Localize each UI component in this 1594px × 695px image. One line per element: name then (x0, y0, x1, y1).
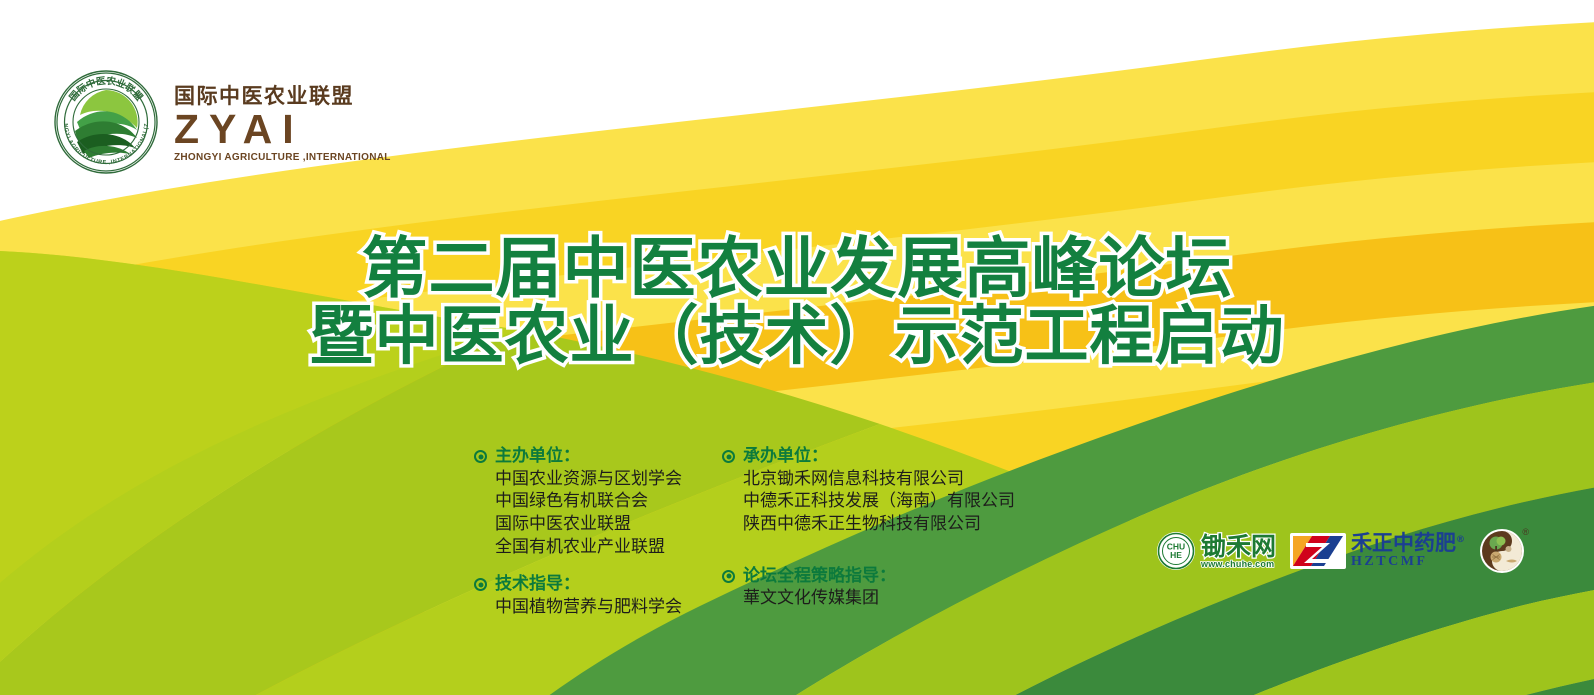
sponsor-logo-chuhe: CHU HE 锄禾网 www.chuhe.com (1156, 531, 1276, 571)
credit-items: 中国植物营养与肥料学会 (495, 596, 682, 619)
hezheng-name-cn: 禾正中药肥® (1351, 533, 1465, 554)
zyai-acronym: ZYAI (174, 109, 391, 150)
trademark-icon: ® (1456, 535, 1465, 545)
zyai-logo: 国际中医农业联盟 ZHONGYI AGRICULTURE ,INTERNATIO… (52, 68, 391, 176)
credit-group-hosts: 承办单位： 北京锄禾网信息科技有限公司 中德禾正科技发展（海南）有限公司 陕西中… (722, 446, 1015, 536)
credit-item: 中国绿色有机联合会 (495, 490, 682, 513)
hezheng-name-en: HZTCMF (1351, 555, 1465, 569)
zyai-org-name-cn: 国际中医农业联盟 (174, 86, 391, 107)
credit-heading-text: 承办单位： (743, 446, 828, 468)
credit-heading: 论坛全程策略指导： (722, 566, 1015, 588)
credit-group-technical-guidance: 技术指导： 中国植物营养与肥料学会 (474, 574, 682, 618)
zyai-wordmark: 国际中医农业联盟 ZYAI ZHONGYI AGRICULTURE ,INTER… (174, 82, 391, 163)
credit-group-organizers: 主办单位： 中国农业资源与区划学会 中国绿色有机联合会 国际中医农业联盟 全国有… (474, 446, 682, 558)
credit-item: 陕西中德禾正生物科技有限公司 (743, 513, 1015, 536)
bullet-icon (474, 450, 487, 463)
sponsor-logo-tree-emblem: ® (1479, 528, 1525, 574)
hezheng-wordmark: 禾正中药肥® HZTCMF (1351, 533, 1465, 569)
credit-heading-text: 主办单位： (495, 446, 580, 468)
chuhe-seal-icon: CHU HE (1156, 531, 1196, 571)
credit-heading: 技术指导： (474, 574, 682, 596)
credit-heading: 主办单位： (474, 446, 682, 468)
bullet-icon (474, 578, 487, 591)
credit-item: 中德禾正科技发展（海南）有限公司 (743, 490, 1015, 513)
credits-block: 主办单位： 中国农业资源与区划学会 中国绿色有机联合会 国际中医农业联盟 全国有… (474, 446, 1015, 629)
sponsor-logo-hezheng: 禾正中药肥® HZTCMF (1290, 533, 1465, 569)
credit-items: 華文文化传媒集团 (743, 587, 1015, 610)
chuhe-wordmark: 锄禾网 www.chuhe.com (1201, 534, 1276, 569)
credits-column-left: 主办单位： 中国农业资源与区划学会 中国绿色有机联合会 国际中医农业联盟 全国有… (474, 446, 682, 629)
credit-group-strategy-guidance: 论坛全程策略指导： 華文文化传媒集团 (722, 566, 1015, 610)
zyai-seal-icon: 国际中医农业联盟 ZHONGYI AGRICULTURE ,INTERNATIO… (52, 68, 160, 176)
zyai-org-name-en: ZHONGYI AGRICULTURE ,INTERNATIONAL (174, 153, 391, 163)
chuhe-name-cn: 锄禾网 (1201, 534, 1276, 559)
credit-heading-text: 技术指导： (495, 574, 580, 596)
bullet-icon (722, 450, 735, 463)
credit-heading: 承办单位： (722, 446, 1015, 468)
chuhe-url: www.chuhe.com (1201, 560, 1276, 569)
bullet-icon (722, 570, 735, 583)
credit-item: 華文文化传媒集团 (743, 587, 1015, 610)
sponsor-logos: CHU HE 锄禾网 www.chuhe.com 禾正中药肥® HZTCMF (1156, 528, 1525, 574)
credit-item: 中国植物营养与肥料学会 (495, 596, 682, 619)
credit-items: 北京锄禾网信息科技有限公司 中德禾正科技发展（海南）有限公司 陕西中德禾正生物科… (743, 468, 1015, 536)
conference-banner: 国际中医农业联盟 ZHONGYI AGRICULTURE ,INTERNATIO… (0, 0, 1594, 695)
svg-text:HE: HE (1170, 550, 1182, 560)
credits-column-right: 承办单位： 北京锄禾网信息科技有限公司 中德禾正科技发展（海南）有限公司 陕西中… (722, 446, 1015, 629)
trademark-icon: ® (1522, 527, 1529, 537)
credit-item: 中国农业资源与区划学会 (495, 468, 682, 491)
credit-heading-text: 论坛全程策略指导： (743, 566, 896, 588)
credit-item: 全国有机农业产业联盟 (495, 536, 682, 559)
hezheng-name-cn-text: 禾正中药肥 (1351, 531, 1456, 555)
tree-emblem-icon (1479, 528, 1525, 574)
credit-item: 北京锄禾网信息科技有限公司 (743, 468, 1015, 491)
credit-item: 国际中医农业联盟 (495, 513, 682, 536)
credit-items: 中国农业资源与区划学会 中国绿色有机联合会 国际中医农业联盟 全国有机农业产业联… (495, 468, 682, 558)
hezheng-mark-icon (1290, 533, 1346, 569)
